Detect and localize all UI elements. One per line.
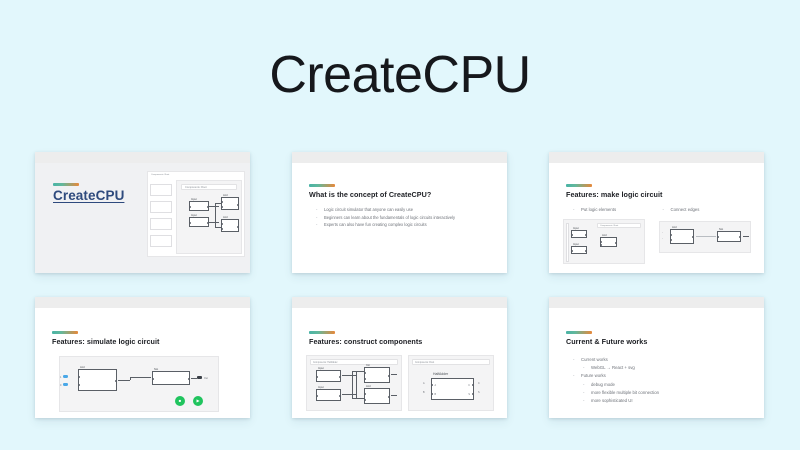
gate-pin[interactable] [388, 375, 390, 377]
gate-pin[interactable] [237, 226, 239, 228]
pin-label: - [662, 237, 663, 240]
input-toggle[interactable] [63, 375, 68, 378]
slide-body: What is the concept of CreateCPU? Logic … [292, 163, 507, 273]
slide-chrome [292, 152, 507, 163]
pin-label-b: B [435, 393, 437, 396]
column-right: Connect edges [663, 207, 753, 212]
wire [215, 203, 216, 227]
component-selector-label: Components: Root [600, 225, 618, 227]
wire [118, 380, 130, 381]
gate-label: Xor [366, 364, 370, 367]
accent-bar [566, 184, 592, 187]
gate-and[interactable]: And [221, 197, 239, 210]
slide-cover[interactable]: CreateCPU Components: Root Components: R… [35, 152, 250, 273]
gate-not[interactable]: Not [152, 371, 190, 385]
wire [743, 236, 749, 237]
palette-strip[interactable] [566, 223, 569, 262]
output-label: Out [204, 377, 208, 380]
slide-body: CreateCPU Components: Root Components: R… [35, 163, 250, 273]
pin-label-s: S [468, 393, 470, 396]
gate-input[interactable]: Input [316, 389, 341, 401]
gate-label: And [223, 194, 228, 197]
slide-chrome [35, 297, 250, 308]
gate-pin[interactable] [364, 378, 366, 380]
external-label-a: A [423, 382, 425, 385]
gate-xor[interactable]: Xor [364, 367, 390, 383]
gate-pin[interactable] [717, 236, 719, 238]
pin-label-a: A [435, 384, 437, 387]
input-toggle[interactable] [63, 383, 68, 386]
column-labels: Put logic elements Connect edges [573, 207, 752, 212]
pin-label-c: C [468, 384, 470, 387]
gate-and[interactable]: And [600, 237, 617, 247]
gate-pin[interactable] [670, 239, 672, 241]
gate-label: Input [191, 198, 197, 201]
wire [696, 236, 716, 237]
wire [130, 377, 151, 378]
list-item: Experts can also have fun creating compl… [316, 222, 495, 228]
gate-input[interactable]: Input [189, 217, 209, 227]
external-label-s: S [478, 391, 480, 394]
gate-input[interactable]: Input [571, 230, 587, 238]
run-button[interactable]: ▶ [193, 396, 203, 406]
gate-pin[interactable] [339, 395, 341, 397]
gate-pin[interactable] [78, 376, 80, 378]
canvas-connect-edges[interactable]: And Not - - [659, 221, 751, 253]
component-pin-b[interactable] [431, 393, 433, 395]
gate-pin[interactable] [364, 393, 366, 395]
gate-label: Input [573, 227, 579, 230]
slide-make-logic-circuit[interactable]: Features: make logic circuit Put logic e… [549, 152, 764, 273]
wire [352, 371, 364, 372]
slide-body: Current & Future works Current works Web… [549, 308, 764, 418]
list-item: more sophisticated UI [583, 397, 752, 404]
component-selector-right[interactable]: Components: Root [412, 359, 490, 365]
gate-pin[interactable] [571, 250, 573, 252]
wire [342, 394, 356, 395]
component-selector-label: Components: Root [185, 186, 207, 189]
wire [391, 395, 397, 396]
gate-label: And [602, 234, 607, 237]
bullet-list: Logic circuit simulator that anyone can … [316, 207, 495, 230]
component-selector-left[interactable]: Components: HalfAdder [310, 359, 398, 365]
list-item: Connect edges [663, 207, 753, 212]
list-item: Current works [573, 356, 752, 363]
gate-pin[interactable] [188, 378, 190, 380]
gate-and[interactable]: And [364, 388, 390, 404]
sidebar-gate[interactable] [150, 235, 172, 247]
gate-label: Not [719, 228, 723, 231]
component-pin-s[interactable] [472, 393, 474, 395]
sidebar-gate[interactable] [150, 218, 172, 230]
slide-chrome [292, 297, 507, 308]
app-window-label: Components: Root [151, 174, 169, 176]
gate-pin[interactable] [316, 395, 318, 397]
slide-chrome [35, 152, 250, 163]
list-item: more flexible multiple bit connection [583, 389, 752, 396]
slide-heading: Current & Future works [566, 337, 752, 346]
gate-pin[interactable] [152, 378, 154, 380]
list-item: Put logic elements [573, 207, 663, 212]
accent-bar [309, 184, 335, 187]
sidebar-gate[interactable] [150, 184, 172, 196]
slide-concept[interactable]: What is the concept of CreateCPU? Logic … [292, 152, 507, 273]
gate-label: Input [573, 243, 579, 246]
app-sidebar [150, 180, 174, 254]
gate-pin[interactable] [585, 234, 587, 236]
list-item: Future works [573, 372, 752, 379]
gate-pin[interactable] [78, 384, 80, 386]
component-pin-a[interactable] [431, 384, 433, 386]
gate-pin[interactable] [221, 206, 223, 208]
app-window: Components: Root Components: Root Input [147, 171, 245, 257]
slide-heading: Features: simulate logic circuit [52, 337, 238, 346]
list-item: debug mode [583, 381, 752, 388]
gate-pin[interactable] [189, 222, 191, 224]
slide-simulate-logic-circuit[interactable]: Features: simulate logic circuit 1 0 And… [35, 297, 250, 418]
pin-label: - [662, 231, 663, 234]
wire [215, 203, 221, 204]
wire [215, 227, 221, 228]
slide-body: Features: simulate logic circuit 1 0 And… [35, 308, 250, 418]
sidebar-gate[interactable] [150, 201, 172, 213]
wire [352, 398, 364, 399]
component-selector[interactable]: Components: Root [181, 184, 237, 190]
gate-pin[interactable] [692, 236, 694, 238]
slide-construct-components[interactable]: Features: construct components Component… [292, 297, 507, 418]
canvas-halfadder-component[interactable]: Components: Root HalfAdder A B C S A B C… [408, 355, 494, 411]
component-name: HalfAdder [433, 372, 448, 376]
cover-title: CreateCPU [53, 188, 124, 203]
gate-pin[interactable] [189, 206, 191, 208]
component-pin-c[interactable] [472, 384, 474, 386]
wire [356, 371, 357, 398]
wire [391, 374, 397, 375]
gate-pin[interactable] [600, 244, 602, 246]
accent-bar [52, 331, 78, 334]
slide-chrome [549, 152, 764, 163]
gate-pin[interactable] [739, 236, 741, 238]
gate-label: Input [318, 367, 324, 370]
gate-and[interactable]: And [670, 229, 694, 244]
gate-label: And [223, 216, 228, 219]
slide-heading: Features: make logic circuit [566, 190, 752, 199]
wire [352, 371, 353, 398]
gate-pin[interactable] [221, 228, 223, 230]
gate-pin[interactable] [115, 380, 117, 382]
list-item: Beginners can learn about the fundamenta… [316, 215, 495, 221]
gate-pin[interactable] [316, 376, 318, 378]
gate-input[interactable]: Input [316, 370, 341, 382]
slide-chrome [549, 297, 764, 308]
gate-input[interactable]: Input [189, 201, 209, 211]
gate-pin[interactable] [221, 201, 223, 203]
gate-pin[interactable] [364, 399, 366, 401]
stop-button[interactable]: ■ [175, 396, 185, 406]
gate-pin[interactable] [339, 376, 341, 378]
gate-pin[interactable] [585, 250, 587, 252]
gate-label: Input [318, 386, 324, 389]
page-title: CreateCPU [0, 44, 800, 106]
gate-label: And [80, 366, 85, 369]
gate-not[interactable]: Not [717, 231, 741, 242]
wire [209, 222, 219, 223]
list-item: Logic circuit simulator that anyone can … [316, 207, 495, 213]
wire [342, 375, 356, 376]
input-label: 0 [60, 384, 61, 387]
output-chip [197, 376, 202, 379]
external-label-c: C [478, 382, 480, 385]
input-label: 1 [60, 376, 61, 379]
slide-body: Features: construct components Component… [292, 308, 507, 418]
gate-label: And [672, 226, 677, 229]
canvas-put-elements[interactable]: Components: Root Input Input And [563, 219, 645, 264]
gate-label: And [366, 385, 371, 388]
gate-and[interactable]: And [78, 369, 117, 391]
gate-and[interactable]: And [221, 219, 239, 232]
list-item: WebGL → React + svg [583, 364, 752, 371]
component-halfadder[interactable]: A B C S [431, 378, 474, 400]
gate-pin[interactable] [364, 372, 366, 374]
slide-heading: Features: construct components [309, 337, 495, 346]
gate-pin[interactable] [615, 242, 617, 244]
gate-pin[interactable] [221, 223, 223, 225]
slide-body: Features: make logic circuit Put logic e… [549, 163, 764, 273]
gate-pin[interactable] [571, 234, 573, 236]
slide-grid: CreateCPU Components: Root Components: R… [35, 152, 765, 418]
slide-heading: What is the concept of CreateCPU? [309, 190, 495, 199]
column-left: Put logic elements [573, 207, 663, 212]
gate-input[interactable]: Input [571, 246, 587, 254]
accent-bar [53, 183, 79, 186]
gate-label: Input [191, 214, 197, 217]
gate-pin[interactable] [388, 396, 390, 398]
slide-current-future-works[interactable]: Current & Future works Current works Web… [549, 297, 764, 418]
component-selector-right-label: Components: Root [415, 362, 434, 364]
canvas-halfadder-internals[interactable]: Components: HalfAdder Input Input Xor [306, 355, 402, 411]
gate-pin[interactable] [237, 204, 239, 206]
app-canvas[interactable]: Components: Root Input Input And [176, 180, 242, 254]
external-label-b: B [423, 391, 425, 394]
bullet-list: Current works WebGL → React + svg Future… [573, 356, 752, 405]
component-selector[interactable]: Components: Root [597, 223, 641, 228]
component-selector-left-label: Components: HalfAdder [313, 362, 338, 364]
simulation-canvas[interactable]: 1 0 And Not Out [59, 356, 219, 412]
gate-pin[interactable] [600, 241, 602, 243]
gate-label: Not [154, 368, 158, 371]
wire [209, 206, 219, 207]
accent-bar [309, 331, 335, 334]
gate-pin[interactable] [670, 234, 672, 236]
accent-bar [566, 331, 592, 334]
